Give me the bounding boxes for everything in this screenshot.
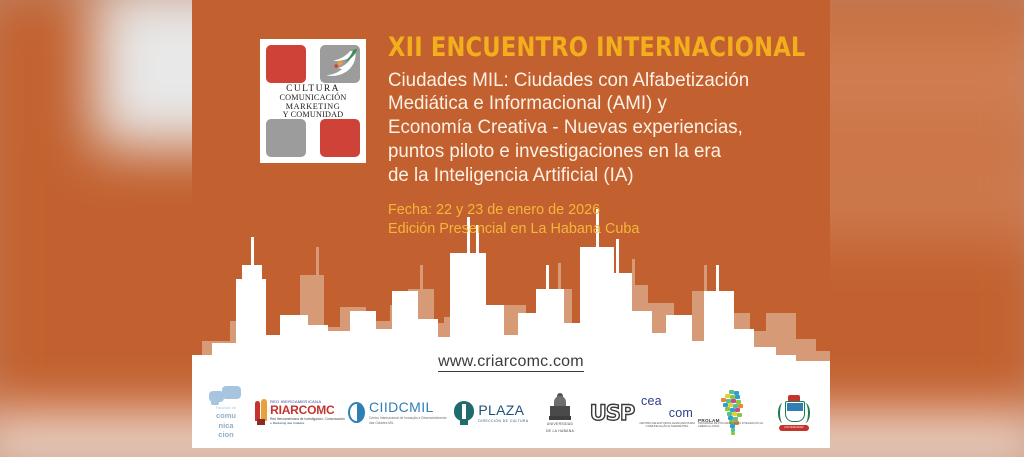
ceacom-sub: CENTRO DE ESTUDOS AVANÇADOS EM COMUNICAÇ…: [638, 422, 696, 430]
sponsor-logo-riarcomc: RED IBEROAMERICANA RIARCOMC Red Iberoame…: [254, 399, 346, 426]
page-title: XII ENCUENTRO INTERNACIONAL: [388, 33, 797, 63]
event-poster: CULTURA COMUNICACIÓN MARKETING Y COMUNID…: [192, 0, 830, 448]
subtitle-line-1: Ciudades MIL: Ciudades con Alfabetizació…: [388, 69, 810, 93]
ceacom-line-1: cea: [641, 396, 662, 408]
riarcomc-figures-icon: [255, 399, 268, 425]
sponsor-logo-facultad-comunicacion: Facultad de comu nica cion: [200, 386, 252, 439]
poster-subtitle: Ciudades MIL: Ciudades con Alfabetizació…: [388, 69, 810, 188]
sponsor-footer-bar: Facultad de comu nica cion RED IBEROAMER…: [192, 377, 830, 448]
subtitle-line-4: puntos piloto e investigaciones en la er…: [388, 140, 810, 164]
usp-name: USP: [590, 401, 635, 425]
subtitle-line-3: Economía Creativa - Nuevas experiencias,: [388, 116, 810, 140]
riarcomc-name: RIARCOMC: [270, 404, 345, 416]
subtitle-line-5: de la Inteligencia Artificial (IA): [388, 164, 810, 188]
cultura-comunicacion-logo: CULTURA COMUNICACIÓN MARKETING Y COMUNID…: [260, 39, 366, 163]
facultad-line-2: nica: [218, 422, 233, 430]
logo-quadrant-gray-bottom-left: [266, 119, 306, 157]
website-url[interactable]: www.criarcomc.com: [192, 353, 830, 371]
sponsor-logo-ceacom: cea com CENTRO DE ESTUDOS AVANÇADOS EM C…: [638, 396, 696, 429]
logo-line-comunidad: Y COMUNIDAD: [283, 111, 344, 119]
logo-quadrant-red-bottom-right: [320, 119, 360, 157]
sponsor-logo-usp: USP: [588, 401, 636, 425]
plaza-sub: DIRECCIÓN DE CULTURA: [478, 419, 528, 423]
ciidcmil-name: CIIDCMIL: [369, 400, 448, 414]
logo-quadrant-gray-top-right: [320, 45, 360, 83]
prolam-sub: PROGRAMA DE PÓS-GRADUAÇÃO INTEGRAÇÃO DA …: [698, 422, 766, 428]
ceacom-line-2: com: [669, 408, 693, 420]
speech-bubbles-icon: [209, 386, 243, 406]
poster-date-block: Fecha: 22 y 23 de enero de 2026 Edición …: [388, 200, 810, 239]
logo-quadrant-red-top-left: [266, 45, 306, 83]
sponsor-logo-university-crest: UNIVERSIDAD: [768, 395, 820, 431]
website-url-text: www.criarcomc.com: [438, 353, 584, 372]
facultad-top-label: Facultad de: [216, 406, 236, 410]
subtitle-line-2: Mediática e Informacional (AMI) y: [388, 92, 810, 116]
sponsor-logo-prolam: PROLAM PROGRAMA DE PÓS-GRADUAÇÃO INTEGRA…: [698, 389, 766, 437]
plaza-name: PLAZA: [478, 403, 528, 417]
university-crest-icon: UNIVERSIDAD: [777, 395, 811, 431]
sponsor-logo-universidad-habana: UNIVERSIDAD DE LA HABANA: [534, 392, 586, 433]
latin-america-map-icon: [709, 389, 755, 437]
habana-line-1: UNIVERSIDAD: [547, 422, 573, 426]
crest-banner-text: UNIVERSIDAD: [779, 425, 809, 431]
bird-figure-icon: [320, 45, 360, 83]
facultad-line-1: comu: [216, 412, 236, 420]
sponsor-logo-plaza: PLAZA DIRECCIÓN DE CULTURA: [450, 401, 532, 425]
habana-line-2: DE LA HABANA: [546, 429, 574, 433]
poster-heading-block: XII ENCUENTRO INTERNACIONAL Ciudades MIL…: [388, 33, 828, 239]
half-circle-icon: [348, 402, 365, 423]
ciidcmil-sub: Centro Internacional de Inovação e Desen…: [369, 416, 448, 425]
plaza-emblem-icon: [453, 401, 475, 425]
logo-wordmark: CULTURA COMUNICACIÓN MARKETING Y COMUNID…: [266, 85, 360, 119]
event-date: Fecha: 22 y 23 de enero de 2026: [388, 200, 810, 220]
habana-crest-icon: [547, 392, 573, 420]
event-location: Edición Presencial en La Habana Cuba: [388, 219, 810, 239]
sponsor-logo-ciidcmil: CIIDCMIL Centro Internacional de Inovaçã…: [348, 400, 448, 425]
riarcomc-sub-2: e Marketing das Cidades: [270, 422, 345, 426]
facultad-line-3: cion: [218, 431, 233, 439]
